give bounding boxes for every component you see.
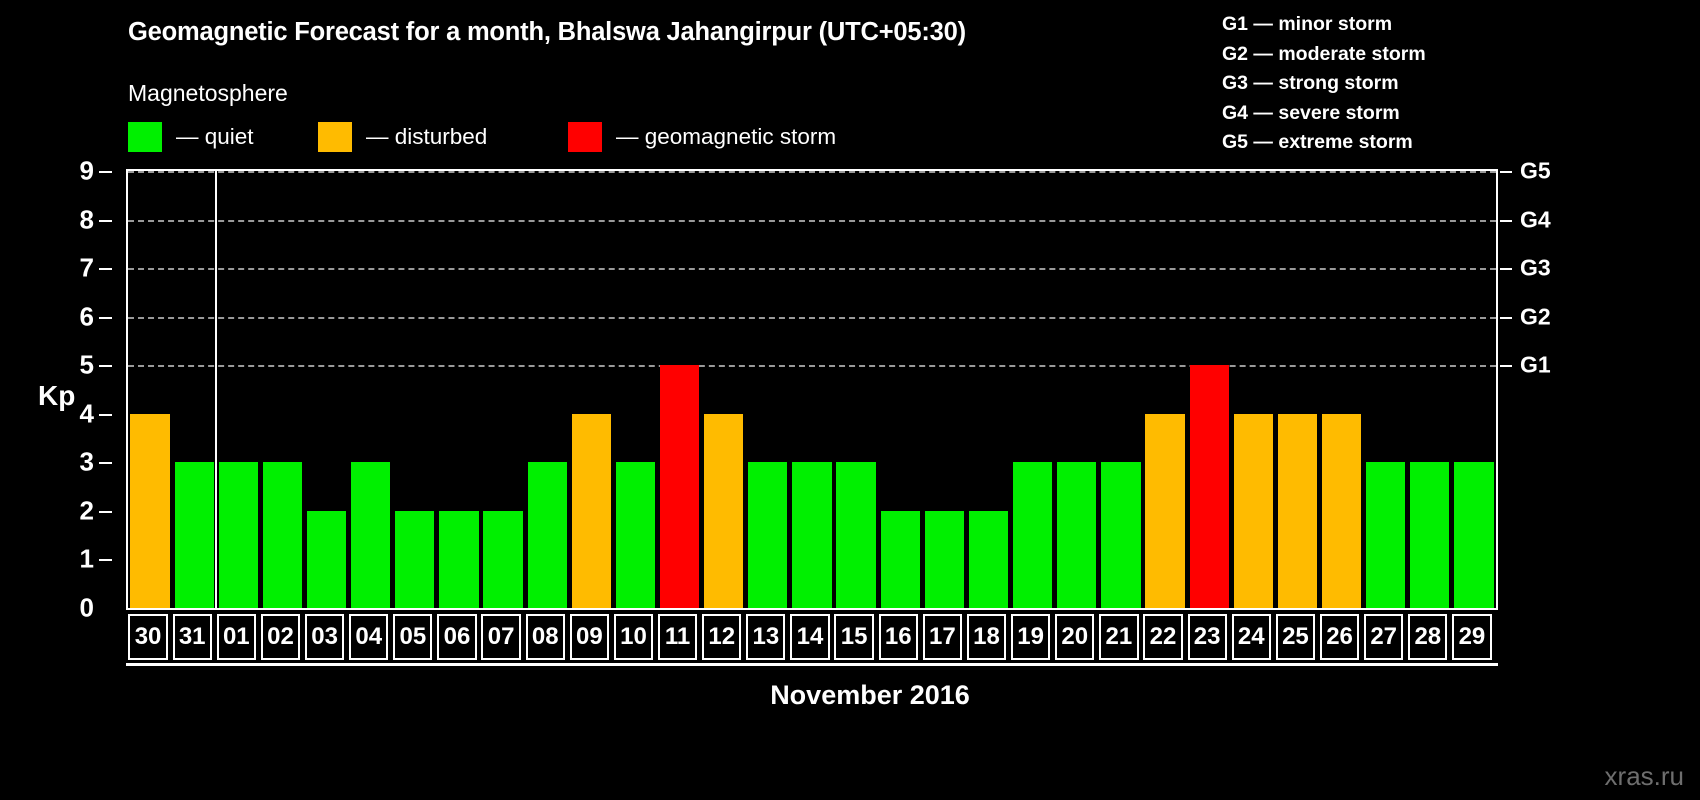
y-tick-mark-2 — [99, 511, 112, 513]
y-tick-label-8: 8 — [54, 204, 94, 235]
y-axis: 0123456789 — [0, 169, 126, 610]
y-tick-label-5: 5 — [54, 350, 94, 381]
bar-day-29 — [1454, 462, 1493, 608]
bar-day-14 — [792, 462, 831, 608]
g-axis-label-G1: G1 — [1520, 352, 1551, 379]
y-tick-label-0: 0 — [54, 593, 94, 624]
x-axis-label-14: 14 — [790, 614, 829, 660]
y-tick-mark-6 — [99, 317, 112, 319]
x-axis-label-13: 13 — [746, 614, 785, 660]
legend-swatch-storm — [568, 122, 602, 152]
x-axis-label-24: 24 — [1232, 614, 1271, 660]
g-axis-tick-G2 — [1500, 317, 1512, 319]
x-axis-label-10: 10 — [614, 614, 653, 660]
bar-day-12 — [704, 414, 743, 608]
bar-day-04 — [351, 462, 390, 608]
y-tick-mark-1 — [99, 559, 112, 561]
x-axis-label-12: 12 — [702, 614, 741, 660]
bar-day-30 — [130, 414, 169, 608]
g-scale-legend-item: G2 — moderate storm — [1222, 40, 1426, 70]
bar-day-23 — [1190, 365, 1229, 608]
x-axis-label-20: 20 — [1055, 614, 1094, 660]
g-axis-tick-G5 — [1500, 171, 1512, 173]
legend-entry-quiet: — quiet — [128, 122, 254, 152]
bar-day-07 — [483, 511, 522, 608]
bar-day-25 — [1278, 414, 1317, 608]
legend-entry-disturbed: — disturbed — [318, 122, 487, 152]
x-axis-label-21: 21 — [1099, 614, 1138, 660]
bar-day-31 — [175, 462, 214, 608]
bar-day-08 — [528, 462, 567, 608]
x-axis-label-26: 26 — [1320, 614, 1359, 660]
bar-day-03 — [307, 511, 346, 608]
x-axis-label-07: 07 — [481, 614, 520, 660]
x-axis-label-28: 28 — [1408, 614, 1447, 660]
bar-day-15 — [836, 462, 875, 608]
legend-label-quiet: — quiet — [176, 124, 254, 150]
g-axis-tick-G3 — [1500, 268, 1512, 270]
x-axis-label-11: 11 — [658, 614, 697, 660]
magnetosphere-legend-title: Magnetosphere — [128, 80, 288, 107]
bar-day-21 — [1101, 462, 1140, 608]
x-axis-label-17: 17 — [923, 614, 962, 660]
g-axis-tick-G4 — [1500, 220, 1512, 222]
y-tick-mark-7 — [99, 268, 112, 270]
x-axis-label-15: 15 — [834, 614, 873, 660]
x-axis-label-03: 03 — [305, 614, 344, 660]
x-axis-label-25: 25 — [1276, 614, 1315, 660]
bar-day-26 — [1322, 414, 1361, 608]
x-axis-label-01: 01 — [217, 614, 256, 660]
g-scale-legend-item: G5 — extreme storm — [1222, 128, 1426, 158]
bar-day-10 — [616, 462, 655, 608]
y-tick-mark-8 — [99, 220, 112, 222]
legend-swatch-disturbed — [318, 122, 352, 152]
g-axis-label-G2: G2 — [1520, 303, 1551, 330]
bar-day-16 — [881, 511, 920, 608]
g-scale-legend-item: G1 — minor storm — [1222, 10, 1426, 40]
bar-day-20 — [1057, 462, 1096, 608]
legend-label-storm: — geomagnetic storm — [616, 124, 836, 150]
x-axis-label-30: 30 — [128, 614, 167, 660]
y-tick-label-4: 4 — [54, 398, 94, 429]
legend-entry-storm: — geomagnetic storm — [568, 122, 836, 152]
g-scale-legend: G1 — minor storm G2 — moderate storm G3 … — [1222, 10, 1426, 158]
y-tick-mark-4 — [99, 414, 112, 416]
x-axis-label-08: 08 — [526, 614, 565, 660]
x-axis-label-16: 16 — [879, 614, 918, 660]
x-axis-label-18: 18 — [967, 614, 1006, 660]
x-axis-label-02: 02 — [261, 614, 300, 660]
y-tick-label-2: 2 — [54, 495, 94, 526]
bar-day-06 — [439, 511, 478, 608]
y-tick-mark-9 — [99, 171, 112, 173]
bar-day-02 — [263, 462, 302, 608]
x-axis-label-29: 29 — [1452, 614, 1491, 660]
x-axis-label-06: 06 — [437, 614, 476, 660]
x-axis-label-22: 22 — [1143, 614, 1182, 660]
x-axis-label-31: 31 — [173, 614, 212, 660]
chart-plot-area — [126, 169, 1498, 610]
g-scale-axis: G1G2G3G4G5 — [1498, 169, 1698, 610]
bar-day-11 — [660, 365, 699, 608]
y-tick-label-9: 9 — [54, 156, 94, 187]
x-axis-label-04: 04 — [349, 614, 388, 660]
legend-swatch-quiet — [128, 122, 162, 152]
bar-day-28 — [1410, 462, 1449, 608]
y-tick-label-1: 1 — [54, 544, 94, 575]
bar-day-05 — [395, 511, 434, 608]
g-axis-label-G3: G3 — [1520, 255, 1551, 282]
bar-day-17 — [925, 511, 964, 608]
x-axis-label-19: 19 — [1011, 614, 1050, 660]
x-axis-label-27: 27 — [1364, 614, 1403, 660]
x-axis-baseline — [126, 663, 1498, 666]
g-scale-legend-item: G3 — strong storm — [1222, 69, 1426, 99]
g-axis-tick-G1 — [1500, 365, 1512, 367]
chart-bars — [128, 171, 1496, 608]
bar-day-18 — [969, 511, 1008, 608]
x-axis-label-05: 05 — [393, 614, 432, 660]
bar-day-13 — [748, 462, 787, 608]
x-axis-label-23: 23 — [1188, 614, 1227, 660]
g-axis-label-G4: G4 — [1520, 206, 1551, 233]
g-scale-legend-item: G4 — severe storm — [1222, 99, 1426, 129]
page-title: Geomagnetic Forecast for a month, Bhalsw… — [128, 18, 966, 47]
x-axis-label-09: 09 — [570, 614, 609, 660]
y-tick-label-7: 7 — [54, 253, 94, 284]
bar-day-22 — [1145, 414, 1184, 608]
g-axis-label-G5: G5 — [1520, 158, 1551, 185]
x-axis-title: November 2016 — [0, 680, 1700, 711]
legend-label-disturbed: — disturbed — [366, 124, 487, 150]
y-tick-mark-3 — [99, 462, 112, 464]
y-tick-label-6: 6 — [54, 301, 94, 332]
bar-day-09 — [572, 414, 611, 608]
y-tick-mark-5 — [99, 365, 112, 367]
watermark: xras.ru — [1605, 761, 1684, 792]
y-tick-label-3: 3 — [54, 447, 94, 478]
bar-day-01 — [219, 462, 258, 608]
bar-day-19 — [1013, 462, 1052, 608]
bar-day-27 — [1366, 462, 1405, 608]
bar-day-24 — [1234, 414, 1273, 608]
